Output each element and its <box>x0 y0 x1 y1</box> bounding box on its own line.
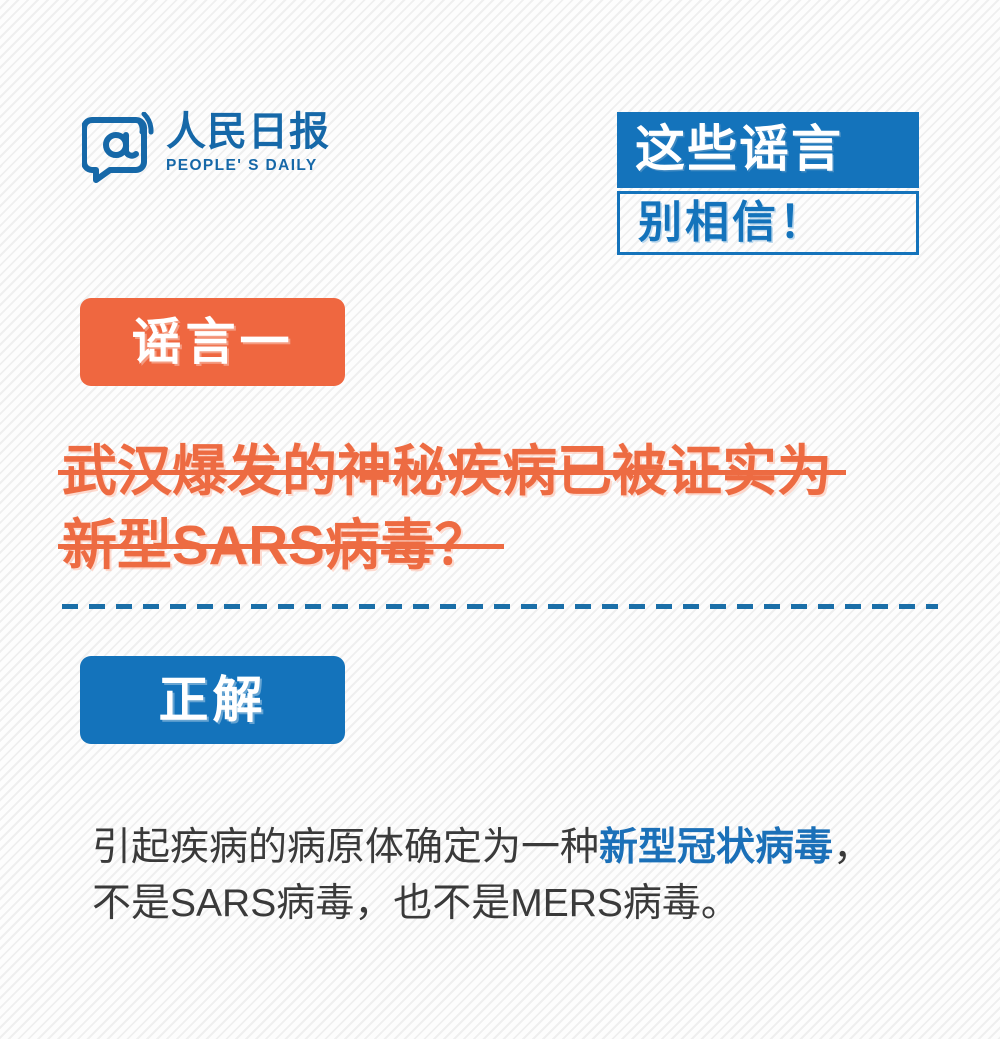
strikethrough-line-2 <box>58 544 504 549</box>
rumor-text-line-2: 新型SARS病毒？ <box>62 508 490 582</box>
at-sign-speech-bubble-icon <box>82 112 162 184</box>
logo-english-name: PEOPLE' S DAILY <box>166 157 330 175</box>
headline-badge: 这些谣言 别相信！ <box>617 112 919 255</box>
poster-header: 人民日报 PEOPLE' S DAILY 这些谣言 别相信！ <box>0 0 1000 280</box>
answer-line-1-prefix: 引起疾病的病原体确定为一种 <box>92 826 599 869</box>
rumor-text-line-1: 武汉爆发的神秘疾病已被证实为 <box>62 434 832 508</box>
headline-bottom-block: 别相信！ <box>617 191 919 255</box>
rumor-pill-label: 谣言一 <box>132 317 294 367</box>
answer-text-block: 引起疾病的病原体确定为一种新型冠状病毒， 不是SARS病毒，也不是MERS病毒。 <box>92 820 952 932</box>
poster-page: 人民日报 PEOPLE' S DAILY 这些谣言 别相信！ 谣言一 武汉爆发的… <box>0 0 1000 1039</box>
headline-bottom-text: 别相信！ <box>638 201 826 245</box>
answer-text-line-1: 引起疾病的病原体确定为一种新型冠状病毒， <box>92 820 952 876</box>
answer-pill: 正解 <box>80 656 345 744</box>
answer-line-1-highlight: 新型冠状病毒 <box>599 826 833 869</box>
rumor-pill: 谣言一 <box>80 298 345 386</box>
peoples-daily-logo: 人民日报 PEOPLE' S DAILY <box>82 112 330 184</box>
headline-top-block: 这些谣言 <box>617 112 919 188</box>
answer-pill-label: 正解 <box>159 675 267 725</box>
headline-top-text: 这些谣言 <box>635 124 843 174</box>
strikethrough-line-1 <box>58 470 846 475</box>
answer-line-1-suffix: ， <box>833 826 872 869</box>
rumor-text-block: 武汉爆发的神秘疾病已被证实为 新型SARS病毒？ <box>62 434 942 582</box>
dashed-divider <box>62 604 938 609</box>
answer-text-line-2: 不是SARS病毒，也不是MERS病毒。 <box>92 876 952 932</box>
logo-chinese-name: 人民日报 <box>166 112 330 152</box>
